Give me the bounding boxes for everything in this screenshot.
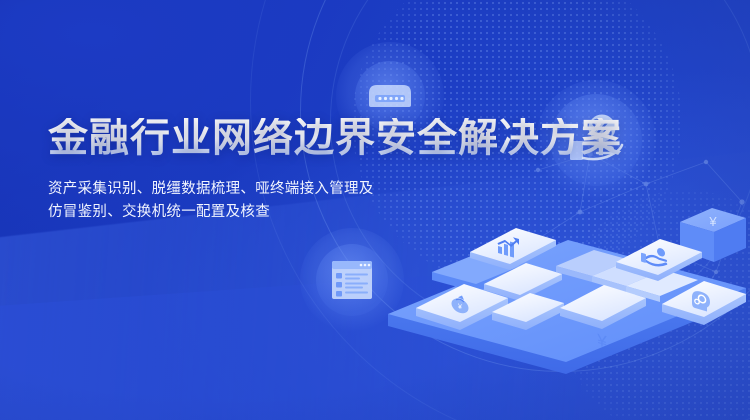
page-subtitle: 资产采集识别、脱缰数据梳理、哑终端接入管理及 仿冒鉴别、交换机统一配置及核查: [48, 178, 622, 225]
document-list-icon: [331, 260, 373, 300]
banner-root: ¥ ¥: [0, 0, 750, 420]
network-switch-icon: [363, 79, 417, 113]
page-title: 金融行业网络边界安全解决方案: [48, 118, 622, 158]
yen-tile-icon: ¥: [596, 329, 607, 352]
subtitle-line-2: 仿冒鉴别、交换机统一配置及核查: [48, 201, 622, 224]
subtitle-line-1: 资产采集识别、脱缰数据梳理、哑终端接入管理及: [48, 178, 622, 201]
svg-text:¥: ¥: [708, 214, 717, 229]
svg-text:¥: ¥: [458, 302, 462, 311]
hero-text-block: 金融行业网络边界安全解决方案 资产采集识别、脱缰数据梳理、哑终端接入管理及 仿冒…: [48, 118, 622, 225]
